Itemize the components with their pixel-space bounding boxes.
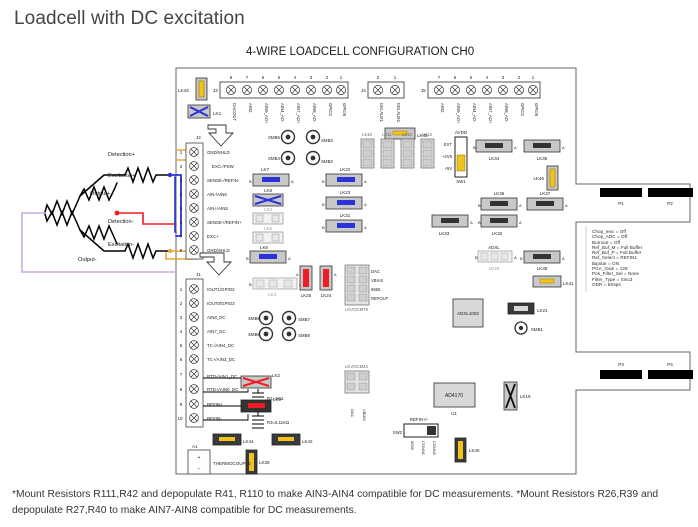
smb-label: SMB3 — [321, 138, 334, 143]
jumper-label: LK13 — [422, 132, 432, 137]
svg-text:AIN2: AIN2 — [440, 103, 445, 113]
svg-text:SENSE-/REFIN-: SENSE-/REFIN- — [207, 178, 240, 183]
jumper-label: LK11 — [382, 132, 392, 137]
setting-line: ODR = 5Ssps — [592, 282, 642, 287]
jumper-label: LK3 — [264, 207, 273, 212]
jumper-label: LK35 — [537, 156, 548, 161]
svg-text:AIN+/AIN5: AIN+/AIN5 — [207, 206, 228, 211]
jumper-label: LK7 — [261, 167, 270, 172]
connector-ref-j3: J3 — [213, 88, 218, 93]
lkvocm34-label: LKVOCM34 — [345, 364, 369, 369]
lkvocm78-label: LKVOCM78 — [345, 307, 369, 312]
connector-ref-j2: J2 — [196, 135, 201, 140]
jumper-label: LK4 — [268, 292, 277, 297]
svg-text:B: B — [322, 225, 325, 230]
sw1-ref: SW1 — [456, 179, 466, 184]
svg-text:AIN8_DC: AIN8_DC — [207, 315, 226, 320]
svg-text:DAC: DAC — [350, 409, 355, 418]
svg-text:AIN8_AO-: AIN8_AO- — [504, 103, 509, 123]
smb-label: SMB6 — [248, 332, 261, 337]
a1-ref: A1 — [192, 444, 198, 449]
svg-text:6655: 6655 — [371, 287, 381, 292]
adc-settings-block: Chop_Iexc = Off Chop_ADC = Off Burnout =… — [592, 229, 642, 287]
jumper-label: LK38 — [537, 266, 548, 271]
bridge-label: Detection+ — [108, 152, 135, 158]
bridge-labels: Detection+ Excitation+ Output+ Detection… — [78, 152, 136, 263]
jumper-label: LK44 — [243, 439, 254, 444]
bridge-label: Excitation- — [108, 242, 134, 248]
svg-text:B: B — [478, 220, 481, 225]
svg-text:AIN9_AO+: AIN9_AO+ — [264, 103, 269, 124]
resistor-label: R3=5.11KΩ — [267, 420, 290, 425]
jumper-label: LK2 — [272, 373, 281, 378]
svg-text:A: A — [519, 220, 522, 225]
smb-label: SMB4 — [268, 156, 281, 161]
svg-text:B: B — [322, 179, 325, 184]
jumper-label: LK26 — [489, 266, 500, 271]
svg-text:A: A — [514, 145, 517, 150]
svg-text:DIG AUX1: DIG AUX1 — [379, 103, 384, 123]
svg-text:DACOUT: DACOUT — [232, 103, 237, 122]
jumper-label: LK39 — [259, 460, 270, 465]
jumper-label: LK10 — [362, 132, 372, 137]
u1-chip-label: AD4170 — [445, 393, 463, 399]
svg-text:B: B — [246, 256, 249, 261]
jumper-label: LK1 — [213, 111, 222, 116]
jumper-label: LK22 — [340, 167, 351, 172]
svg-text:A: A — [288, 256, 291, 261]
svg-text:−: − — [198, 466, 201, 472]
smb-label: SMB7 — [298, 317, 311, 322]
u1-ref: U1 — [451, 411, 457, 416]
svg-text:GPIO6: GPIO6 — [534, 103, 539, 117]
sw2-ref: SW2 — [393, 430, 403, 435]
svg-text:EXC-/PSW: EXC-/PSW — [212, 164, 235, 169]
svg-text:+: + — [198, 455, 201, 461]
svg-text:AIN4_AO-: AIN4_AO- — [472, 103, 477, 123]
connector-ref-j4: J4 — [361, 88, 366, 93]
svg-text:IOUT1/GPIO2: IOUT1/GPIO2 — [207, 287, 235, 292]
jumper-label: LK21 — [537, 308, 548, 313]
svg-text:AIN8_AO-: AIN8_AO- — [312, 103, 317, 123]
p1-label: P1 — [618, 201, 624, 206]
svg-text:AIN4_AO-: AIN4_AO- — [280, 103, 285, 123]
svg-text:IOUT0/GPIO3: IOUT0/GPIO3 — [207, 301, 235, 306]
jumper-label: LK46 — [533, 176, 544, 181]
jumper-label: LK6 — [260, 245, 269, 250]
smb-label: SMB2 — [321, 159, 334, 164]
adxl-label: ADXL — [488, 245, 500, 250]
sw1-title: AVDD — [455, 130, 468, 135]
jumper-label: LK42 — [302, 439, 313, 444]
smb-label: SMB8 — [248, 316, 261, 321]
svg-text:A: A — [364, 225, 367, 230]
jumper-label: LK32 — [492, 231, 503, 236]
svg-text:REFOUT: REFOUT — [371, 296, 389, 301]
connector-ref-j5: J5 — [421, 88, 426, 93]
p3-label: P3 — [618, 362, 624, 367]
jumper-label: LK9 — [273, 397, 282, 402]
svg-text:AIN7_AO+: AIN7_AO+ — [488, 103, 493, 124]
sw1-pos: EXT — [444, 142, 453, 147]
svg-text:A: A — [291, 179, 294, 184]
jumper-label: LK19 — [520, 394, 531, 399]
sw1-pos: +5V — [444, 166, 452, 171]
jumper-label: LK43 — [178, 88, 189, 93]
svg-text:A: A — [562, 256, 565, 261]
svg-text:A: A — [519, 203, 522, 208]
sw2-title: REFIN+/- — [410, 417, 429, 422]
svg-text:10: 10 — [177, 416, 183, 421]
jumper-label: LK41 — [563, 281, 574, 286]
svg-text:B: B — [322, 202, 325, 207]
svg-text:EXC+: EXC+ — [207, 234, 219, 239]
svg-text:GPIO6: GPIO6 — [342, 103, 347, 117]
svg-text:A: A — [364, 202, 367, 207]
svg-text:B: B — [249, 179, 252, 184]
smb-label: SMB5 — [268, 135, 281, 140]
svg-text:B: B — [475, 255, 478, 260]
screenshot-root: Loadcell with DC excitation 4-WIRE LOADC… — [0, 0, 698, 527]
jumper-label: LK25 — [301, 293, 312, 298]
svg-text:AIN2: AIN2 — [248, 103, 253, 113]
footnote-text: *Mount Resistors R111,R42 and depopulate… — [12, 487, 688, 519]
svg-text:A: A — [514, 255, 517, 260]
jumper-label: LK31 — [340, 213, 351, 218]
jumper-label: LK8 — [264, 188, 273, 193]
svg-text:CONN2: CONN2 — [432, 441, 437, 456]
svg-text:AIN9_AO+: AIN9_AO+ — [456, 103, 461, 124]
svg-text:TC-/AIN4_DC: TC-/AIN4_DC — [207, 343, 234, 348]
svg-text:AIN-/AIN6: AIN-/AIN6 — [207, 192, 227, 197]
svg-text:VBIAS: VBIAS — [362, 409, 367, 421]
svg-text:RTD+/AIN0_DC: RTD+/AIN0_DC — [207, 387, 238, 392]
jumper-label: LK5 — [264, 226, 273, 231]
svg-text:B: B — [249, 282, 252, 287]
jumper-label: LK12 — [402, 132, 412, 137]
component-adxl1002: ADXL1002 — [453, 299, 483, 327]
svg-text:DAC: DAC — [371, 269, 380, 274]
sw1-pos: +2V5 — [442, 154, 453, 159]
svg-text:GND/SHLD: GND/SHLD — [207, 248, 230, 253]
jumper-label: LK33 — [439, 231, 450, 236]
jumper-label: LK37 — [540, 191, 551, 196]
a1-label: THERMOCOUPLE — [213, 461, 251, 466]
connector-ref-j1: J1 — [196, 272, 201, 277]
svg-text:VBIAS: VBIAS — [371, 278, 384, 283]
svg-text:GND/SHLD: GND/SHLD — [207, 150, 230, 155]
jumper-label: LK23 — [340, 190, 351, 195]
svg-text:6655: 6655 — [410, 441, 415, 451]
bridge-label: Output- — [78, 257, 97, 263]
svg-text:DIG AUX2: DIG AUX2 — [396, 103, 401, 123]
wheatstone-bridge — [22, 150, 196, 272]
bridge-label: Excitation+ — [108, 173, 136, 179]
svg-text:SENSE+/REFIN+: SENSE+/REFIN+ — [207, 220, 242, 225]
svg-text:A: A — [562, 145, 565, 150]
bridge-label: Detection- — [108, 219, 134, 225]
jumper-label: LK36 — [494, 191, 505, 196]
svg-text:CONN1: CONN1 — [421, 441, 426, 456]
setting-line: Ref_Select = REFIN1 — [592, 255, 642, 260]
bridge-label: Output+ — [90, 191, 110, 197]
svg-text:GPIO1: GPIO1 — [328, 103, 333, 117]
svg-text:AIN7_AO+: AIN7_AO+ — [296, 103, 301, 124]
adxl-chip-label: ADXL1002 — [457, 311, 479, 316]
svg-text:B: B — [478, 203, 481, 208]
smb-label: SMB9 — [298, 333, 311, 338]
jumper-label: LK40 — [469, 448, 480, 453]
setting-line: Pos_Filter_Sel = None — [592, 271, 642, 276]
jumper-label: LK34 — [489, 156, 500, 161]
svg-text:A: A — [364, 179, 367, 184]
smb-label: SMB1 — [531, 327, 544, 332]
svg-text:AIN7_DC: AIN7_DC — [207, 329, 226, 334]
p4-label: P4 — [667, 362, 673, 367]
jumper-label: LK24 — [321, 293, 332, 298]
svg-text:GPIO1: GPIO1 — [520, 103, 525, 117]
svg-text:A: A — [565, 203, 568, 208]
svg-text:B: B — [520, 256, 523, 261]
svg-text:B: B — [473, 145, 476, 150]
svg-text:TC+/AIN3_DC: TC+/AIN3_DC — [207, 357, 235, 362]
p2-label: P2 — [667, 201, 673, 206]
svg-text:A: A — [470, 220, 473, 225]
